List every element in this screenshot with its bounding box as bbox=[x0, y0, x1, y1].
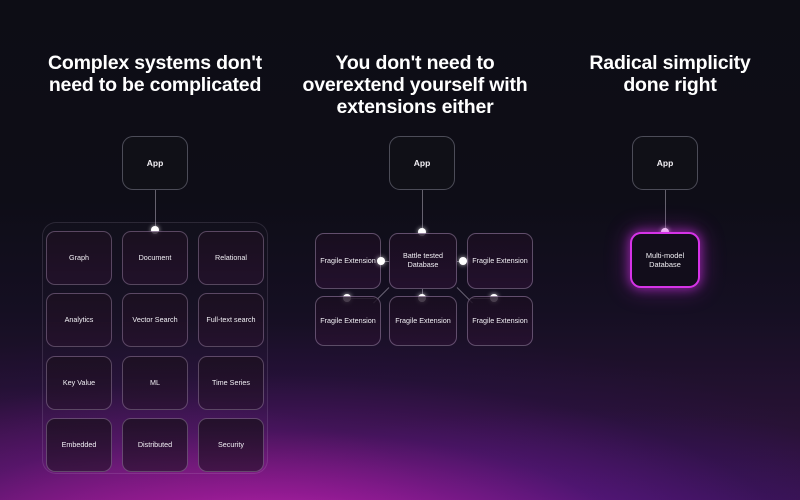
column-right-heading: Radical simplicity done right bbox=[540, 53, 800, 97]
middle-app-node[interactable]: App bbox=[389, 136, 455, 190]
node-label: Battle tested Database bbox=[390, 252, 456, 270]
tile-label: Analytics bbox=[62, 316, 97, 325]
column-left-heading: Complex systems don't need to be complic… bbox=[0, 53, 310, 97]
tile-full-text-search[interactable]: Full-text search bbox=[198, 293, 264, 347]
tile-ml[interactable]: ML bbox=[122, 356, 188, 410]
column-middle-heading: You don't need to overextend yourself wi… bbox=[290, 53, 540, 118]
tile-analytics[interactable]: Analytics bbox=[46, 293, 112, 347]
node-label: Fragile Extension bbox=[392, 317, 454, 326]
tile-key-value[interactable]: Key Value bbox=[46, 356, 112, 410]
left-app-label: App bbox=[144, 158, 167, 168]
node-label: Multi-model Database bbox=[632, 251, 698, 269]
tile-label: Time Series bbox=[209, 379, 253, 388]
tile-label: Security bbox=[215, 441, 247, 450]
right-connector-vertical bbox=[665, 190, 666, 232]
tile-document[interactable]: Document bbox=[122, 231, 188, 285]
tile-label: Vector Search bbox=[129, 316, 180, 325]
node-label: Fragile Extension bbox=[317, 257, 379, 266]
tile-label: Graph bbox=[66, 254, 92, 263]
column-middle: You don't need to overextend yourself wi… bbox=[290, 0, 540, 500]
column-right: Radical simplicity done right App Multi-… bbox=[540, 0, 800, 500]
tile-relational[interactable]: Relational bbox=[198, 231, 264, 285]
tile-label: Document bbox=[136, 254, 175, 263]
middle-app-label: App bbox=[411, 158, 434, 168]
node-label: Fragile Extension bbox=[469, 257, 531, 266]
tile-label: Key Value bbox=[60, 379, 98, 388]
tile-vector-search[interactable]: Vector Search bbox=[122, 293, 188, 347]
right-app-node[interactable]: App bbox=[632, 136, 698, 190]
node-battle-tested-database[interactable]: Battle tested Database bbox=[389, 233, 457, 289]
tile-label: Full-text search bbox=[203, 316, 258, 325]
middle-connector-dot-right bbox=[459, 257, 467, 265]
tile-embedded[interactable]: Embedded bbox=[46, 418, 112, 472]
node-fragile-extension-right[interactable]: Fragile Extension bbox=[467, 233, 533, 289]
left-connector-vertical bbox=[155, 190, 156, 226]
node-fragile-extension-bc[interactable]: Fragile Extension bbox=[389, 296, 457, 346]
node-label: Fragile Extension bbox=[469, 317, 531, 326]
left-app-node[interactable]: App bbox=[122, 136, 188, 190]
middle-connector-vertical-top bbox=[422, 190, 423, 232]
tile-label: Embedded bbox=[59, 441, 100, 450]
tile-time-series[interactable]: Time Series bbox=[198, 356, 264, 410]
tile-label: Relational bbox=[212, 254, 250, 263]
right-app-label: App bbox=[654, 158, 677, 168]
tile-distributed[interactable]: Distributed bbox=[122, 418, 188, 472]
tile-graph[interactable]: Graph bbox=[46, 231, 112, 285]
node-fragile-extension-left[interactable]: Fragile Extension bbox=[315, 233, 381, 289]
node-fragile-extension-bl[interactable]: Fragile Extension bbox=[315, 296, 381, 346]
node-label: Fragile Extension bbox=[317, 317, 379, 326]
tile-security[interactable]: Security bbox=[198, 418, 264, 472]
middle-connector-dot-left bbox=[377, 257, 385, 265]
node-multi-model-database[interactable]: Multi-model Database bbox=[630, 232, 700, 288]
tile-label: ML bbox=[147, 379, 163, 388]
column-left: Complex systems don't need to be complic… bbox=[0, 0, 310, 500]
tile-label: Distributed bbox=[135, 441, 175, 450]
node-fragile-extension-br[interactable]: Fragile Extension bbox=[467, 296, 533, 346]
